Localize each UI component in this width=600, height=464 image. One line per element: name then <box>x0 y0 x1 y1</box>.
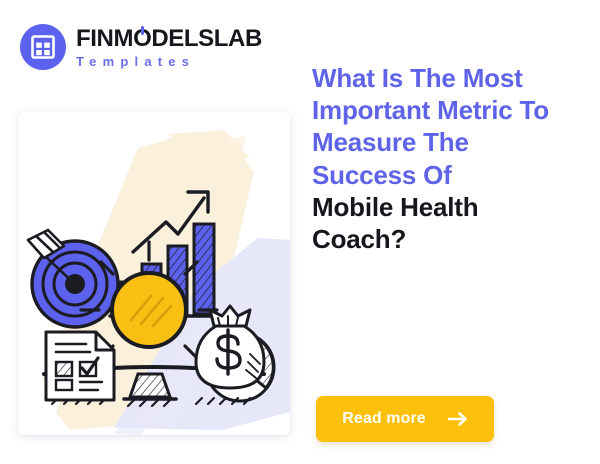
brand-logo[interactable]: FINMODELSLAB Templates <box>20 24 262 70</box>
headline-line-3: Measure The <box>312 126 586 158</box>
headline-line-2: Important Metric To <box>312 94 586 126</box>
document-checklist-icon <box>46 332 114 400</box>
brand-name-part1: FINM <box>76 25 133 52</box>
headline-line-4: Success Of <box>312 159 586 191</box>
brand-name: FINMODELSLAB <box>76 27 262 51</box>
brand-name-part2: DELSLAB <box>151 25 262 52</box>
power-bar-icon <box>141 26 144 35</box>
read-more-button[interactable]: Read more <box>316 396 494 442</box>
brand-subtitle: Templates <box>76 55 262 68</box>
grid-icon <box>20 24 66 70</box>
headline-line-1: What Is The Most <box>312 62 586 94</box>
business-metrics-illustration <box>18 112 290 435</box>
page-title: What Is The Most Important Metric To Mea… <box>312 62 586 255</box>
illustration-card <box>18 112 290 435</box>
headline-line-6: Coach? <box>312 223 586 255</box>
brand-wordmark: FINMODELSLAB Templates <box>76 27 262 68</box>
headline-line-5: Mobile Health <box>312 191 586 223</box>
read-more-label: Read more <box>342 410 426 428</box>
arrow-right-icon <box>448 412 468 426</box>
promo-banner: FINMODELSLAB Templates <box>0 0 600 464</box>
brand-name-accent-o: O <box>133 27 151 51</box>
